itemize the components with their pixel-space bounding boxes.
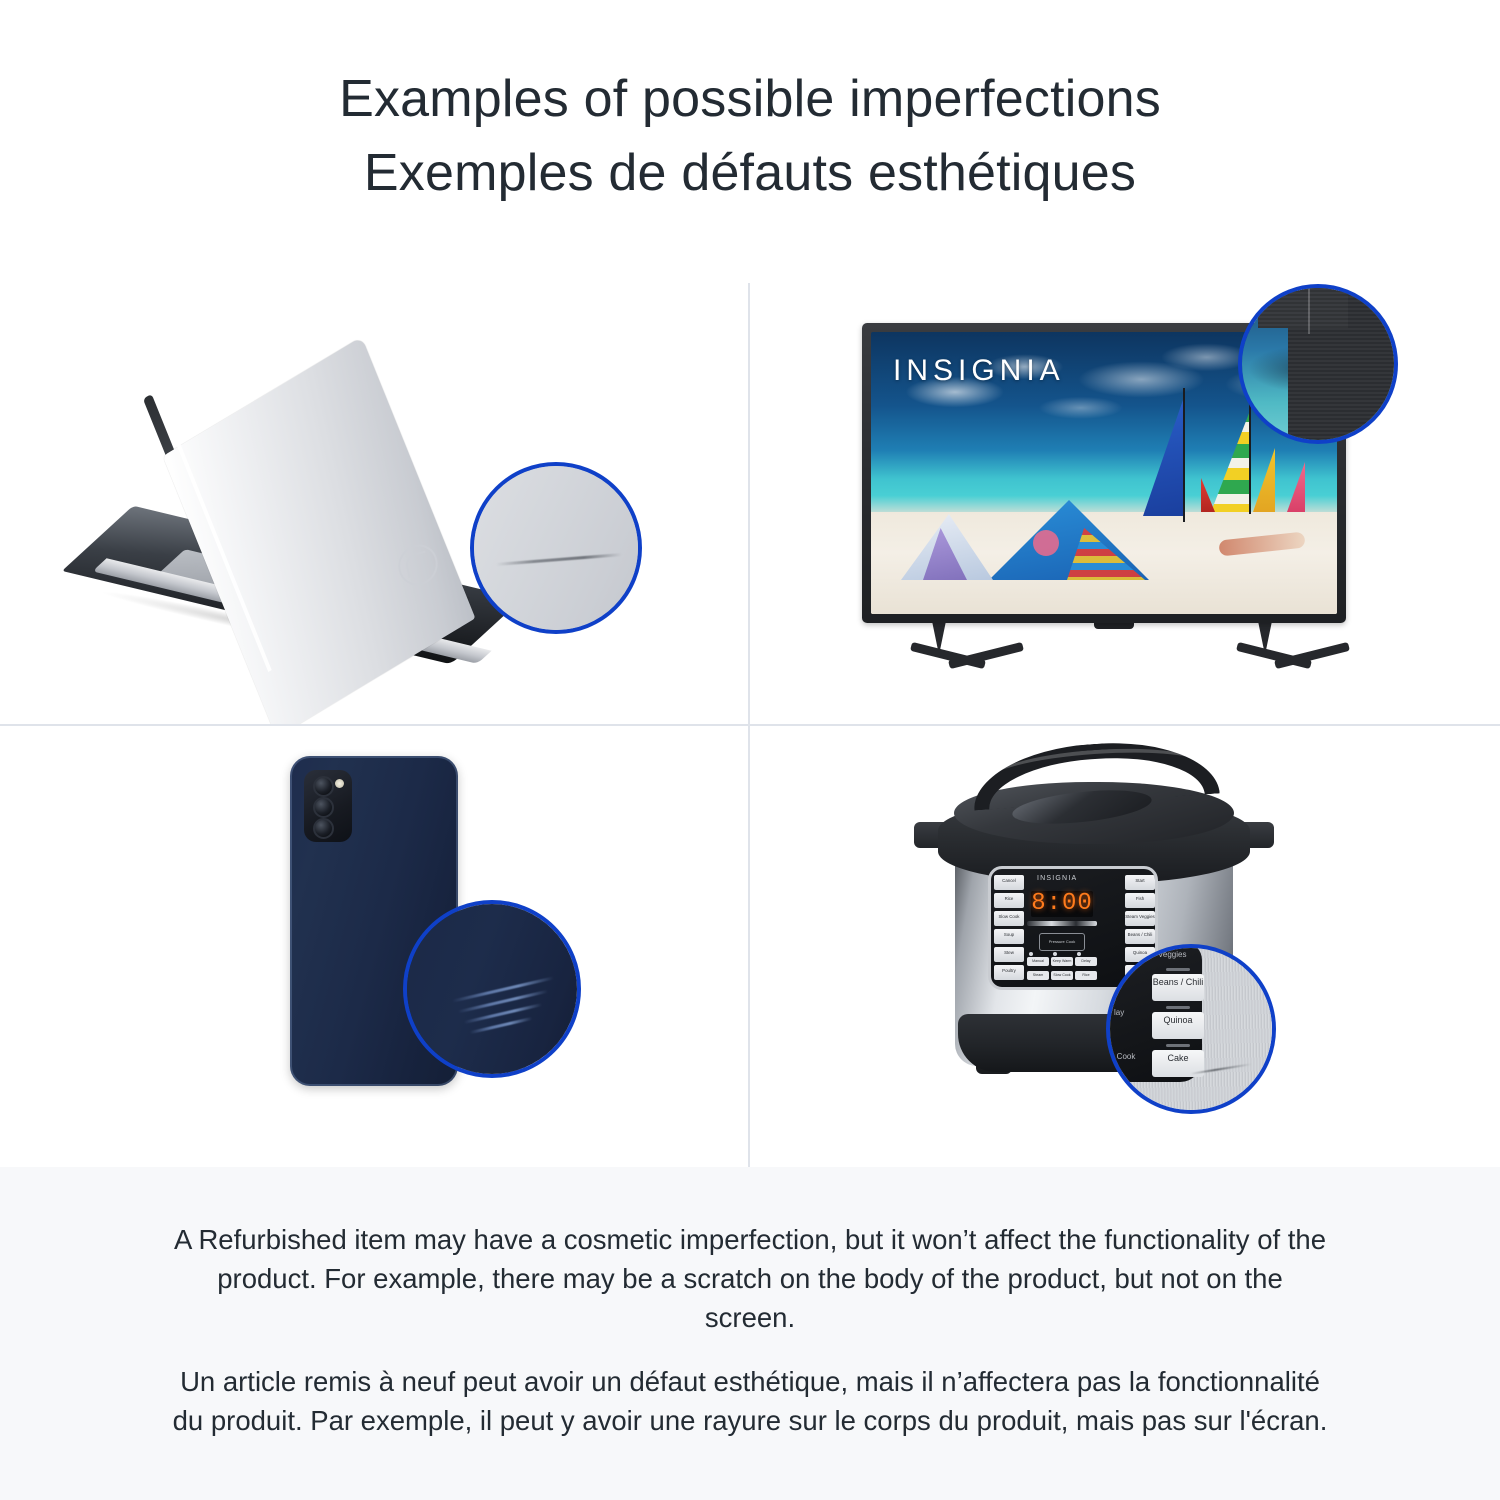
cooker-button-start[interactable]: Start	[1125, 875, 1155, 890]
cooker-indicator-led-3	[1077, 952, 1081, 956]
cooker-mid-controls[interactable]: Pressure Cook Manual Keep Warm Delay Ste…	[1027, 921, 1097, 983]
cooker-button-stew[interactable]: Stew	[994, 947, 1024, 962]
camera-lens-icon-1	[313, 776, 334, 797]
cooker-button-poultry[interactable]: Poultry	[994, 965, 1024, 980]
panel-phone	[0, 726, 748, 1167]
camera-lens-icon-2	[313, 797, 334, 818]
description-text-en: A Refurbished item may have a cosmetic i…	[170, 1220, 1330, 1337]
magnifier-separator-3	[1166, 1044, 1190, 1047]
tv-mast-blue	[1183, 388, 1185, 522]
tv-brand-logo: INSIGNIA	[893, 354, 1065, 388]
magnifier-button-beans-chili[interactable]: Beans / Chili	[1152, 974, 1204, 1001]
cooker-button-delay[interactable]: Delay	[1075, 957, 1097, 966]
magnifier-button-quinoa[interactable]: Quinoa	[1152, 1012, 1204, 1039]
description-band: A Refurbished item may have a cosmetic i…	[0, 1167, 1500, 1500]
cooker-button-cancel[interactable]: Cancel	[994, 875, 1024, 890]
cooker-led-display: 8:00	[1031, 891, 1093, 917]
magnifier-tv-bezel-seam	[1308, 288, 1310, 334]
cooker-button-column-left[interactable]: Cancel Rice Slow Cook Soup Stew Poultry	[994, 875, 1024, 983]
magnifier-laptop-defect	[470, 462, 642, 634]
cooker-button-manual[interactable]: Manual	[1027, 957, 1049, 966]
magnifier-phone-surface	[407, 904, 577, 1074]
description-text-fr: Un article remis à neuf peut avoir un dé…	[170, 1362, 1330, 1440]
cooker-pressure-readout: Pressure Cook	[1039, 933, 1085, 951]
cooker-button-beans-chili[interactable]: Beans / Chili	[1125, 929, 1155, 944]
title-line-fr: Exemples de défauts esthétiques	[0, 136, 1500, 210]
phone-illustration	[0, 726, 748, 1167]
magnifier-laptop-surface	[474, 466, 638, 630]
magnifier-phone-defect	[403, 900, 581, 1078]
laptop-lid	[163, 337, 476, 724]
phone-camera-module	[304, 770, 352, 842]
cooker-button-rice-mid[interactable]: Rice	[1075, 971, 1097, 980]
cooker-button-steam-veggies[interactable]: Steam Veggies	[1125, 911, 1155, 926]
magnifier-cooker-defect: lay e Cook Veggies Beans / Chili Quinoa …	[1106, 944, 1276, 1114]
cooker-button-slow-cook[interactable]: Slow Cook	[994, 911, 1024, 926]
magnifier-separator-2	[1166, 1006, 1190, 1009]
cooker-button-soup[interactable]: Soup	[994, 929, 1024, 944]
camera-flash-icon	[335, 779, 344, 788]
cooker-indicator-led-2	[1053, 952, 1057, 956]
camera-lens-icon-3	[313, 818, 334, 839]
cooker-brand-logo: INSIGNIA	[1037, 875, 1077, 882]
magnifier-tv-defect	[1238, 284, 1398, 444]
magnifier-separator-1	[1166, 968, 1190, 971]
cooker-button-fish[interactable]: Fish	[1125, 893, 1155, 908]
page-title: Examples of possible imperfections Exemp…	[0, 62, 1500, 210]
cooker-button-rice[interactable]: Rice	[994, 893, 1024, 908]
cooker-indicator-led-1	[1029, 952, 1033, 956]
tv-kite-pink-emblem	[1033, 530, 1059, 556]
title-line-en: Examples of possible imperfections	[0, 62, 1500, 136]
magnifier-label-cook: e Cook	[1110, 1052, 1135, 1061]
cooker-mode-strip	[1027, 921, 1097, 926]
cooker-button-keep-warm[interactable]: Keep Warm	[1051, 957, 1073, 966]
magnifier-label-veggies: Veggies	[1158, 950, 1186, 959]
magnifier-label-delay: lay	[1114, 1008, 1124, 1017]
cooker-button-steam[interactable]: Steam	[1027, 971, 1049, 980]
cooker-button-slow-cook-mid[interactable]: Slow Cook	[1051, 971, 1073, 980]
magnifier-tv-bezel-top	[1258, 284, 1348, 328]
